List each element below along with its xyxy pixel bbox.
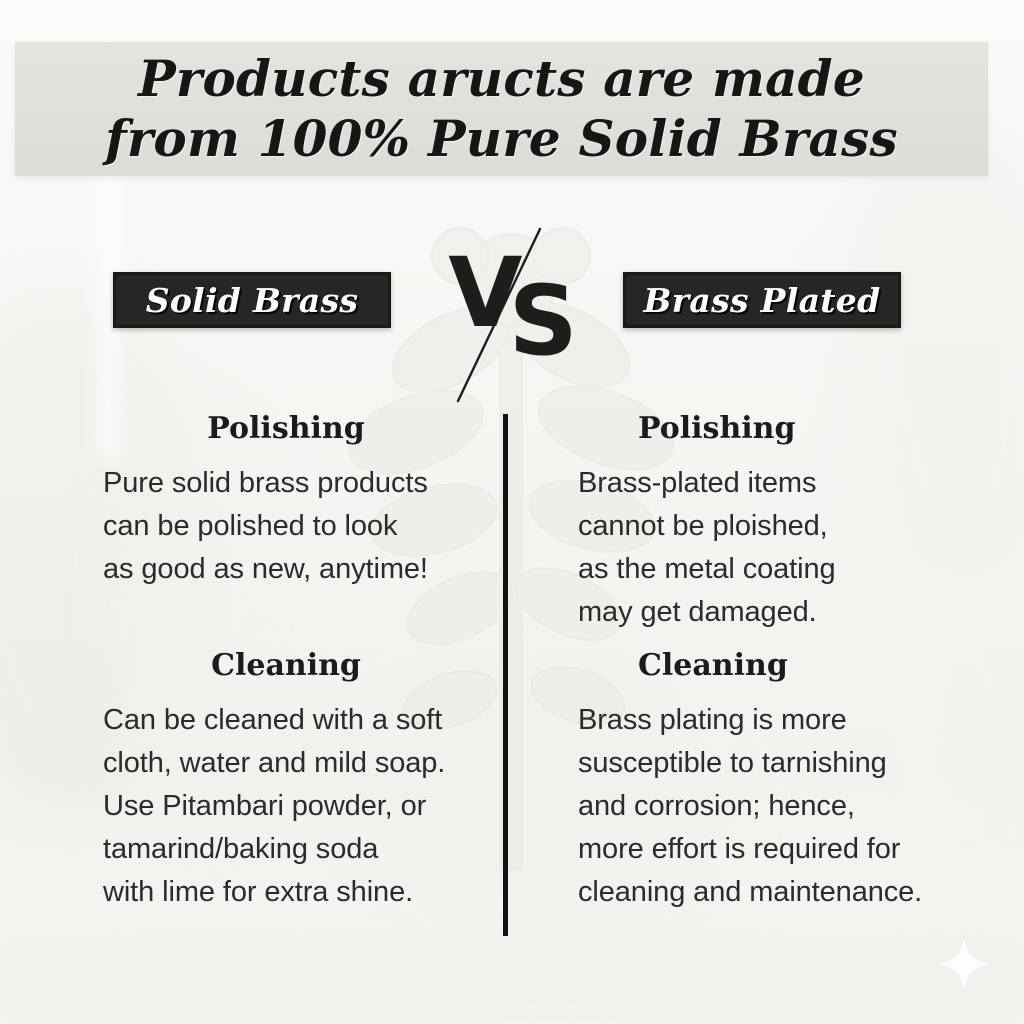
section-heading: Polishing: [86, 410, 486, 448]
section-body: Brass plating is more susceptible to tar…: [560, 699, 980, 914]
badge-brass-plated-label: Brass Plated: [644, 281, 881, 320]
badge-solid-brass-label: Solid Brass: [146, 281, 359, 320]
badge-brass-plated: Brass Plated: [623, 272, 901, 328]
section-heading: Cleaning: [86, 647, 486, 685]
sparkle-icon: [936, 936, 992, 992]
column-divider: [503, 414, 508, 936]
section-body: Pure solid brass products can be polishe…: [86, 462, 486, 591]
section-heading: Cleaning: [560, 647, 980, 685]
section-polishing-left: Polishing Pure solid brass products can …: [86, 410, 486, 591]
page-title: Products aructs are made from 100% Pure …: [77, 49, 926, 169]
versus-slash-icon: [430, 215, 590, 415]
section-cleaning-right: Cleaning Brass plating is more susceptib…: [560, 647, 980, 914]
section-body: Can be cleaned with a soft cloth, water …: [86, 699, 486, 914]
section-polishing-right: Polishing Brass-plated items cannot be p…: [560, 410, 980, 634]
header-banner: Products aructs are made from 100% Pure …: [15, 42, 988, 176]
column-solid-brass: Polishing Pure solid brass products can …: [86, 410, 486, 924]
section-spacer: [86, 601, 486, 647]
versus-mark: VS: [430, 215, 590, 415]
section-heading: Polishing: [560, 410, 980, 448]
section-body: Brass-plated items cannot be ploished, a…: [560, 462, 980, 634]
badge-solid-brass: Solid Brass: [113, 272, 391, 328]
infographic-poster: Products aructs are made from 100% Pure …: [0, 0, 1024, 1024]
section-cleaning-left: Cleaning Can be cleaned with a soft clot…: [86, 647, 486, 914]
column-brass-plated: Polishing Brass-plated items cannot be p…: [560, 410, 980, 924]
background-band: [0, 930, 1024, 1024]
